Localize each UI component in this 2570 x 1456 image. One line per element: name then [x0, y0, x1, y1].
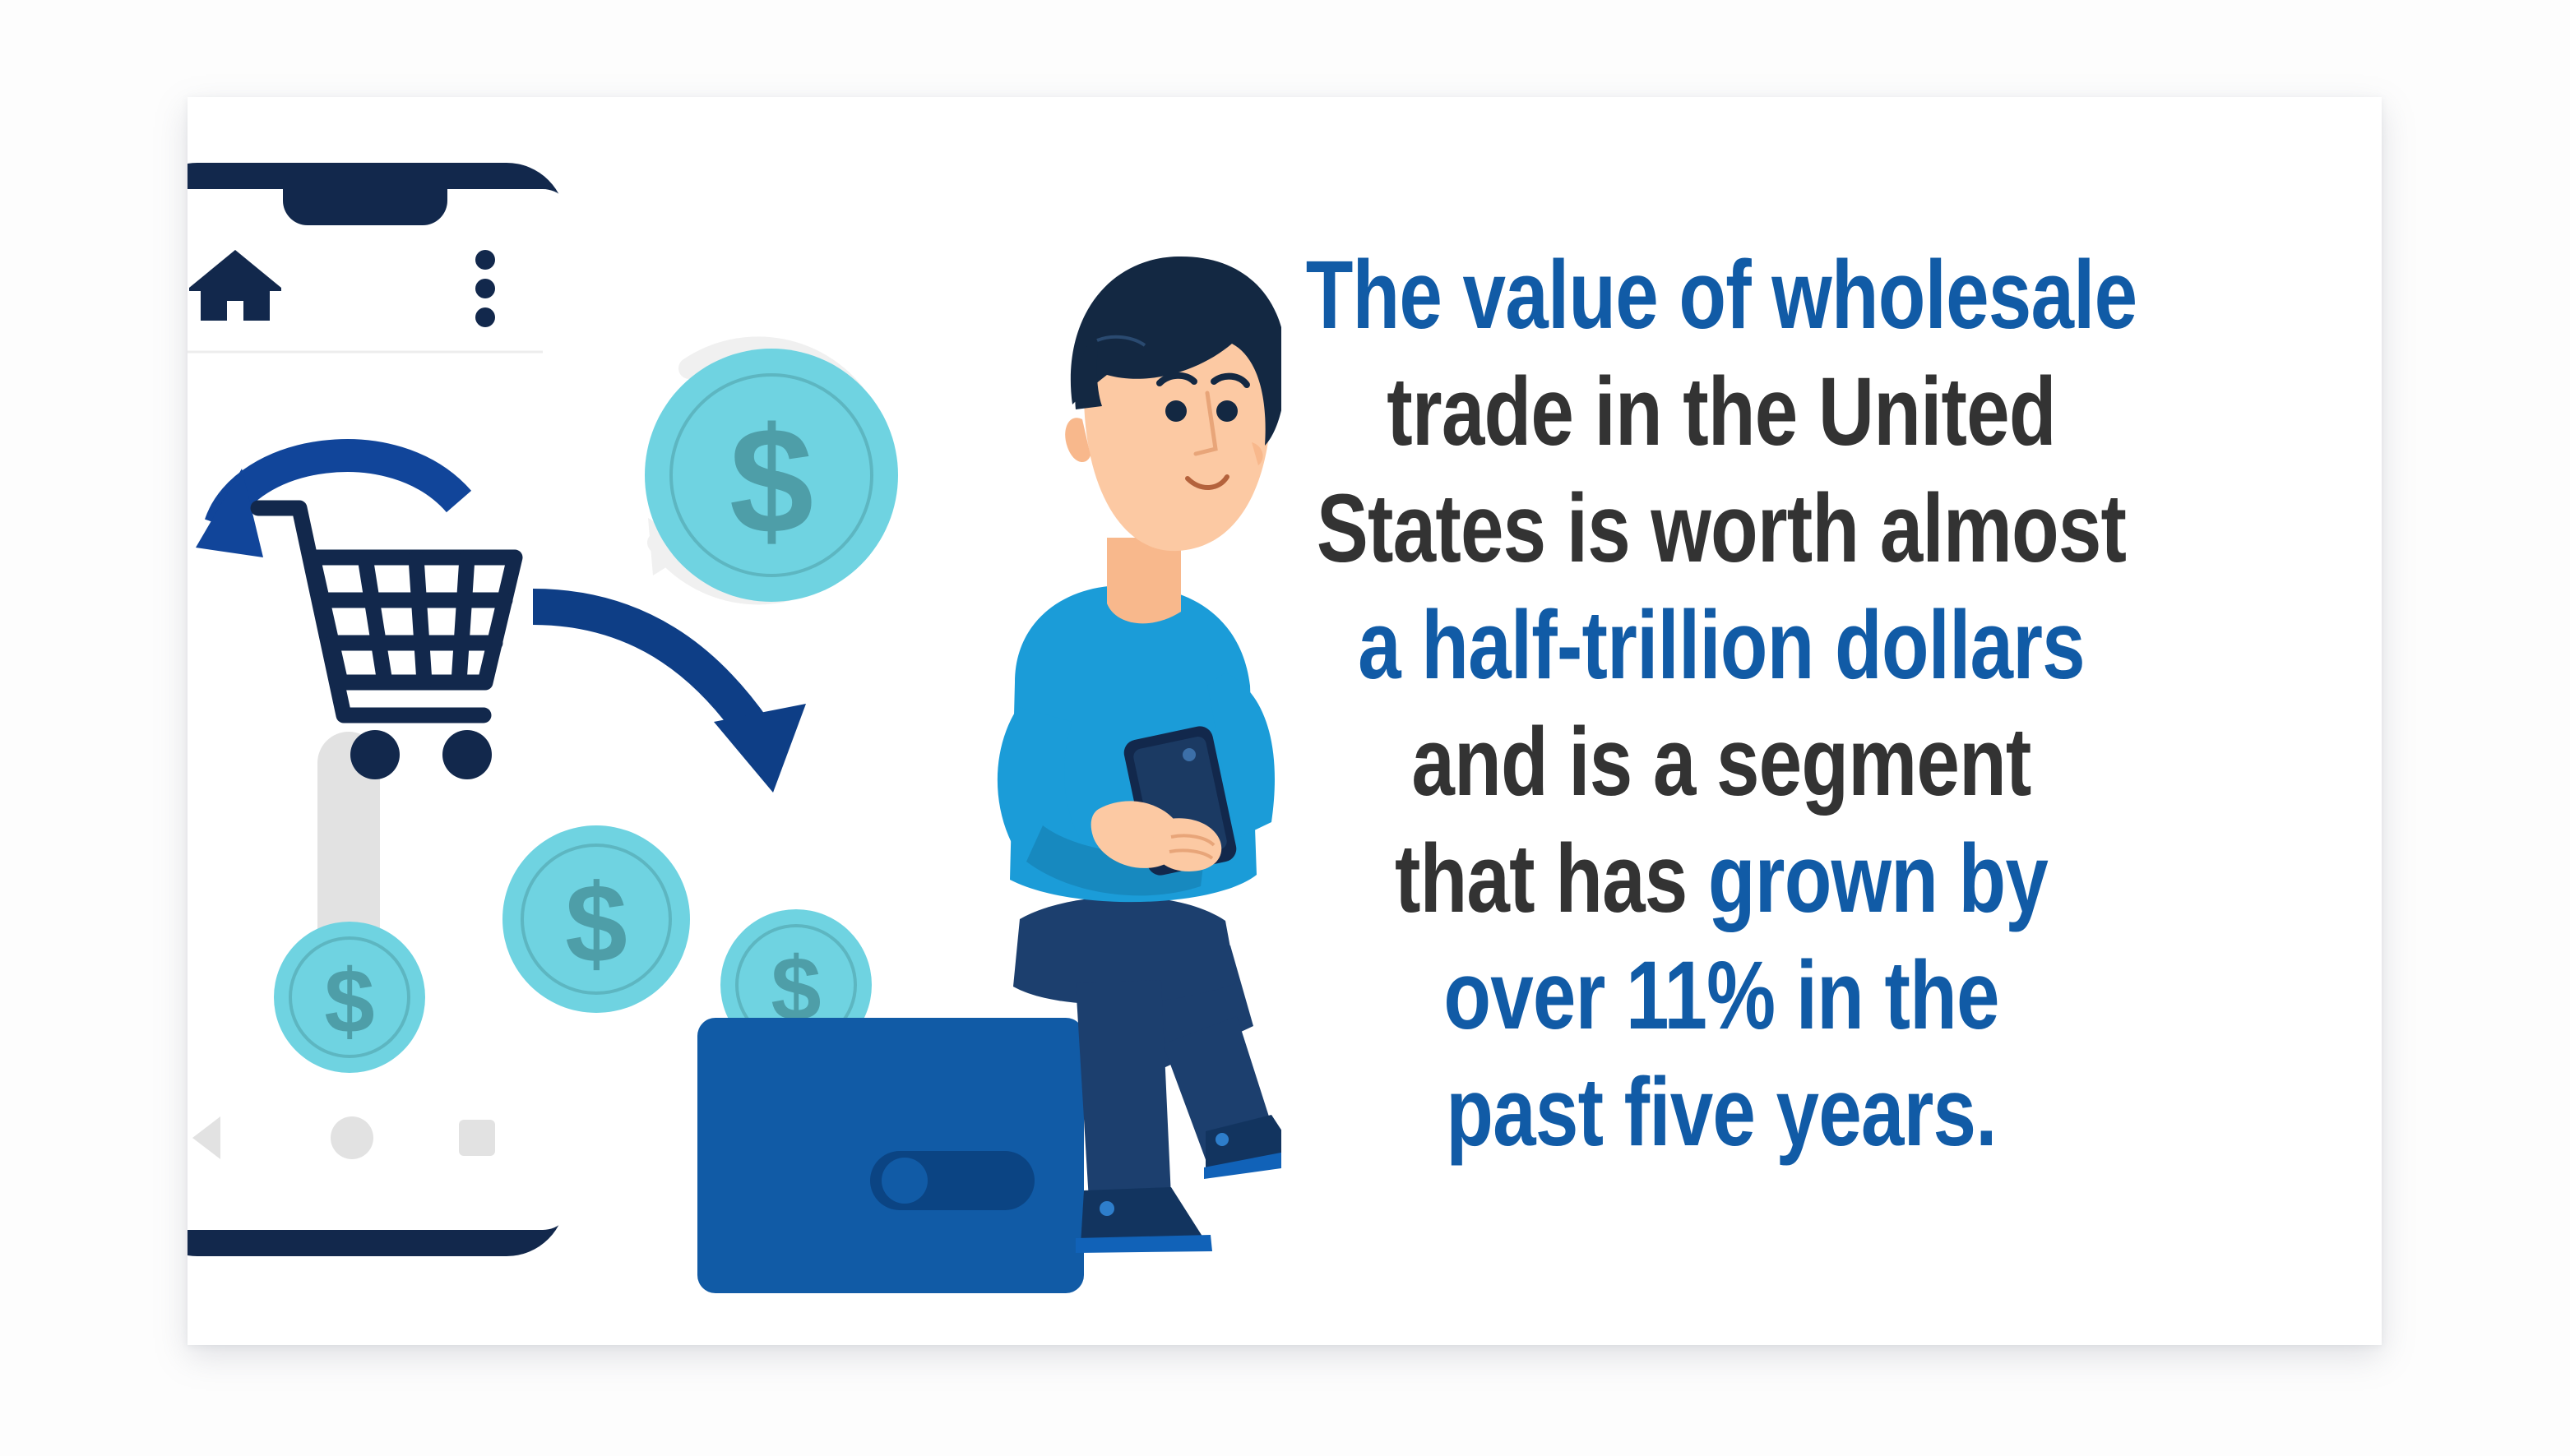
illustration-graphic: $ $ $ $ — [188, 97, 1281, 1345]
nav-home-circle-icon — [331, 1116, 373, 1159]
svg-text:$: $ — [729, 395, 813, 565]
statement-line-3: States is worth almost — [1251, 470, 2192, 587]
wallet-icon — [697, 1018, 1084, 1293]
statement-line-7: over 11% in the — [1251, 937, 2192, 1054]
curved-down-right-arrow-icon — [533, 607, 806, 793]
coin-top: $ — [645, 349, 898, 602]
statement-line-1: The value of wholesale — [1251, 237, 2192, 354]
coin-left: $ — [274, 922, 425, 1073]
infographic-card: $ $ $ $ — [188, 97, 2382, 1345]
nav-recents-square-icon — [459, 1120, 495, 1156]
statement-text-block: The value of wholesale trade in the Unit… — [1133, 237, 2309, 1171]
illustration-svg: $ $ $ $ — [188, 97, 1281, 1345]
svg-text:$: $ — [565, 861, 627, 986]
statement-line-6-blue: grown by — [1708, 825, 2048, 933]
statement-line-8: past five years. — [1251, 1054, 2192, 1171]
statement-line-4: a half-trillion dollars — [1251, 587, 2192, 704]
statement-line-2: trade in the United — [1251, 354, 2192, 470]
statement-line-5: and is a segment — [1251, 704, 2192, 820]
coin-middle: $ — [502, 825, 690, 1013]
page-root: $ $ $ $ — [0, 0, 2570, 1456]
statement-line-6: that has grown by — [1251, 820, 2192, 937]
statement-line-6-dark: that has — [1395, 825, 1708, 933]
svg-text:$: $ — [324, 951, 374, 1052]
three-dot-menu-icon — [475, 250, 495, 327]
